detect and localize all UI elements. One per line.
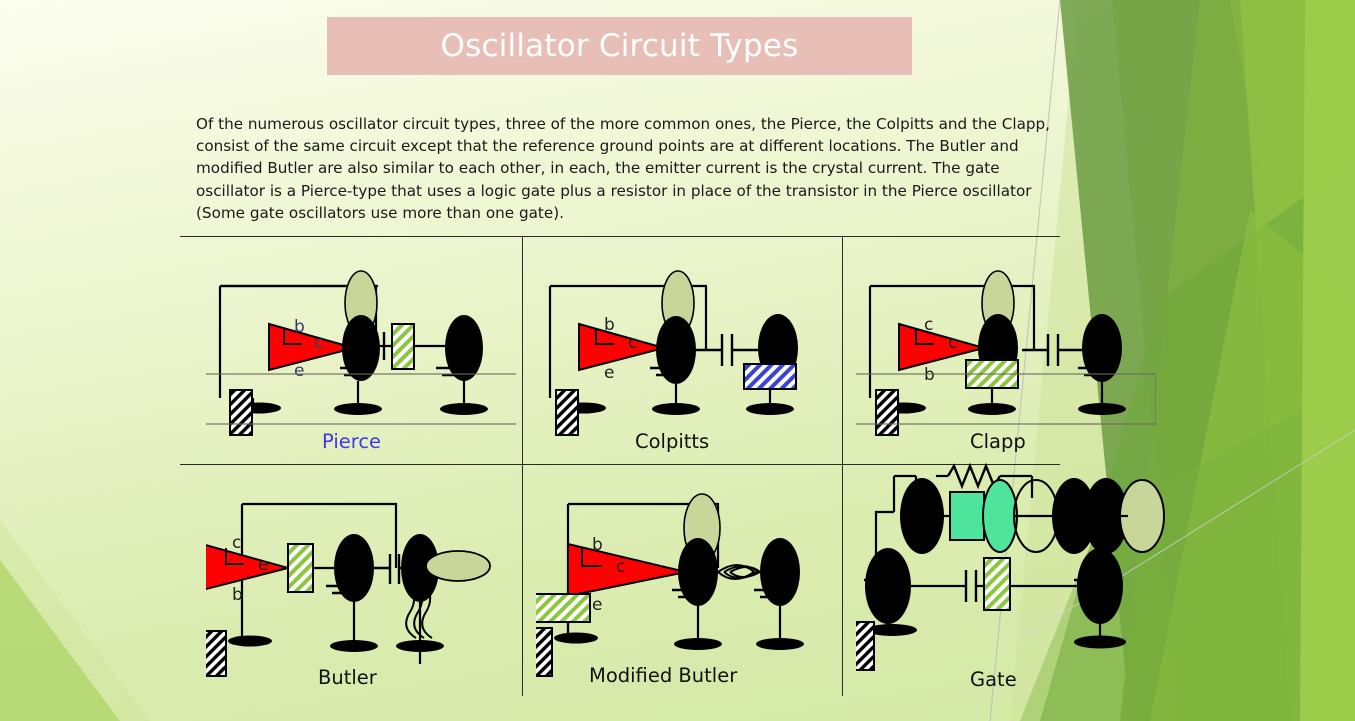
slide-canvas: Oscillator Circuit Types Of the numerous… [0, 0, 1355, 721]
circuit-colpitts: b c e [536, 258, 836, 448]
svg-text:b: b [592, 535, 603, 555]
table-col-divider-4 [842, 464, 843, 696]
svg-text:c: c [232, 533, 241, 553]
svg-text:b: b [294, 317, 305, 337]
page-title: Oscillator Circuit Types [327, 17, 912, 75]
body-paragraph: Of the numerous oscillator circuit types… [196, 113, 1062, 224]
svg-text:e: e [592, 595, 602, 615]
svg-text:c: c [924, 315, 933, 335]
svg-text:c: c [948, 333, 957, 353]
table-col-divider-2 [842, 236, 843, 464]
slide-title-bar: Oscillator Circuit Types [327, 17, 912, 75]
circuit-table: b c e Pierc [180, 236, 1060, 696]
svg-text:c: c [628, 333, 637, 353]
svg-text:e: e [294, 361, 304, 381]
cell-label-clapp: Clapp [970, 430, 1026, 453]
table-col-divider-1 [522, 236, 523, 464]
circuit-butler: c e b [206, 486, 516, 686]
svg-text:e: e [258, 555, 268, 575]
cell-label-modified-butler: Modified Butler [589, 664, 737, 687]
circuit-modified-butler: b c e [536, 486, 836, 686]
svg-text:b: b [232, 585, 243, 605]
cell-label-colpitts: Colpitts [635, 430, 709, 453]
svg-text:b: b [924, 365, 935, 385]
svg-text:c: c [616, 557, 625, 577]
cell-label-butler: Butler [318, 666, 377, 689]
svg-text:b: b [604, 315, 615, 335]
table-col-divider-3 [522, 464, 523, 696]
cell-label-pierce: Pierce [322, 430, 381, 453]
svg-text:c: c [314, 333, 323, 353]
svg-text:e: e [604, 363, 614, 383]
cell-label-gate: Gate [970, 668, 1017, 691]
circuit-pierce: b c e [206, 258, 516, 448]
table-top-rule [180, 236, 1060, 237]
circuit-clapp: c c b [856, 258, 1156, 448]
circuit-gate [856, 454, 1176, 684]
